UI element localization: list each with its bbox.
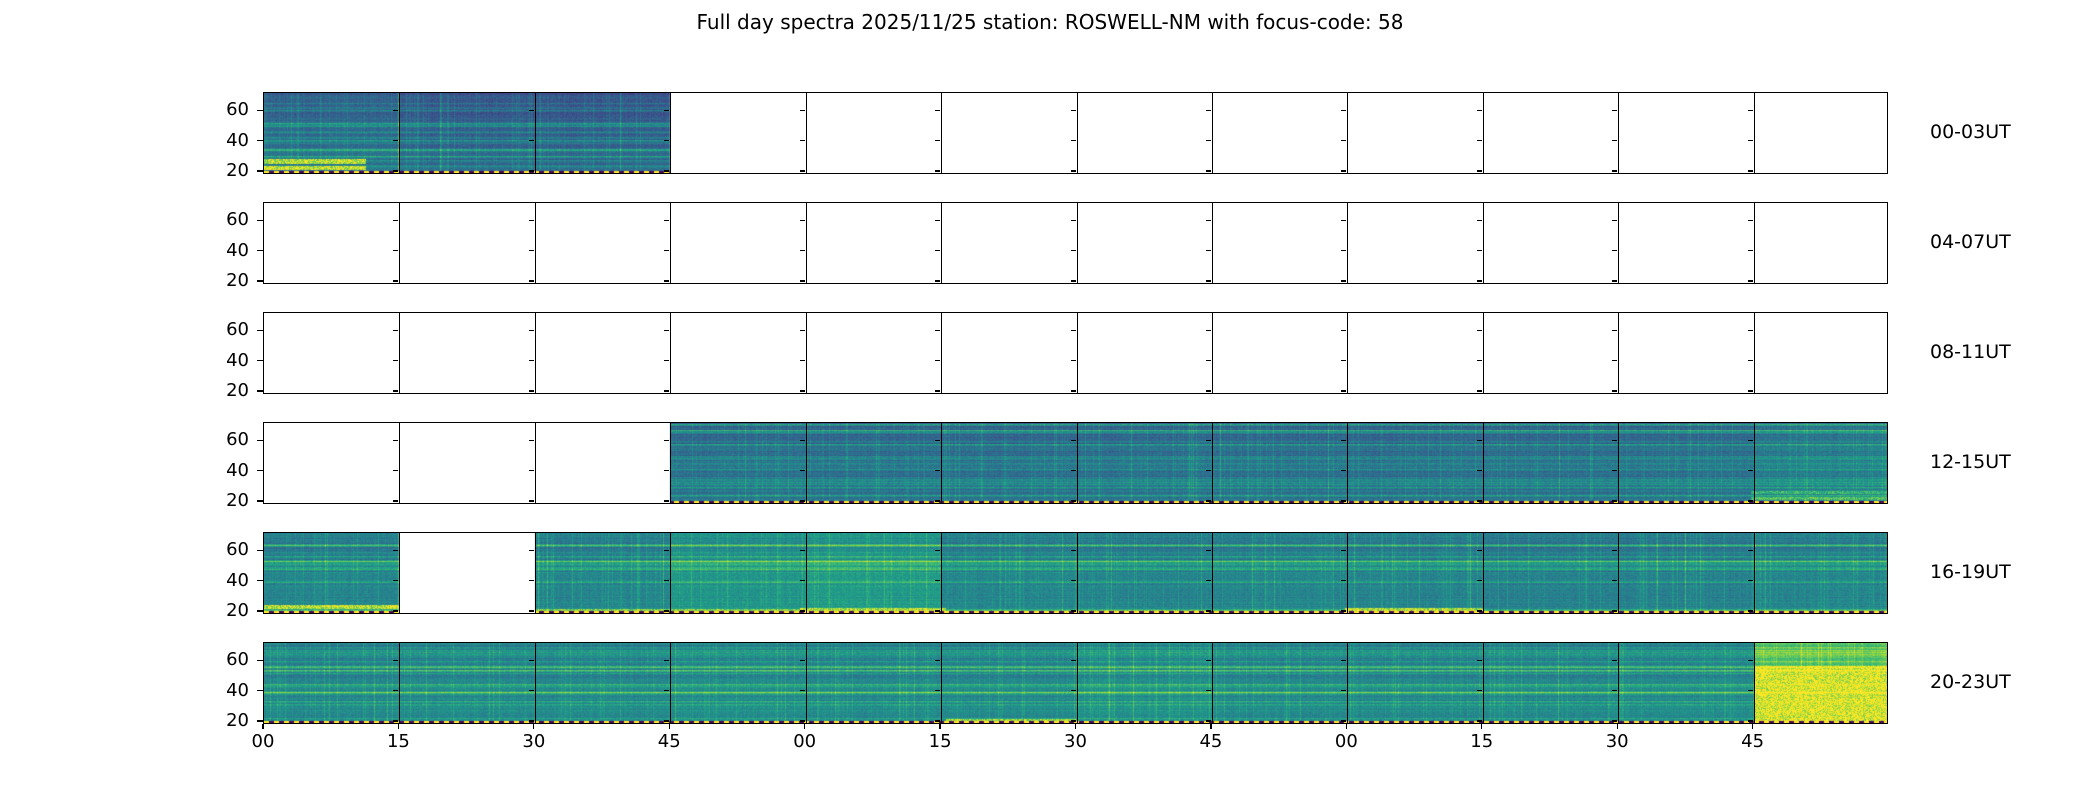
segment-divider	[806, 93, 807, 173]
x-tick-label: 00	[765, 731, 845, 752]
y-tick-mark-inner	[1206, 660, 1211, 661]
y-tick-mark-inner	[1477, 330, 1482, 331]
x-tick-label: 45	[1713, 731, 1793, 752]
segment-divider	[1754, 203, 1755, 283]
y-tick-mark-inner	[1071, 390, 1076, 391]
y-tick-mark-inner	[1206, 500, 1211, 501]
y-tick-mark-inner	[1748, 330, 1753, 331]
y-tick-mark-inner	[529, 360, 534, 361]
segment-divider	[1347, 203, 1348, 283]
y-tick-mark-inner	[1477, 470, 1482, 471]
y-tick-mark-inner	[1612, 140, 1617, 141]
y-tick-mark	[257, 390, 263, 391]
y-tick-mark	[257, 500, 263, 501]
y-tick-mark-inner	[1477, 440, 1482, 441]
y-tick-mark-inner	[1206, 690, 1211, 691]
y-tick-mark-inner	[1612, 250, 1617, 251]
segment-divider	[670, 203, 671, 283]
y-tick-mark-inner	[800, 360, 805, 361]
y-tick-mark-inner	[935, 360, 940, 361]
y-tick-mark-inner	[1206, 580, 1211, 581]
y-tick-label: 40	[201, 680, 249, 701]
y-tick-mark-inner	[1341, 470, 1346, 471]
y-tick-mark-inner	[664, 250, 669, 251]
y-tick-label: 60	[201, 649, 249, 670]
segment-divider	[535, 203, 536, 283]
spectrogram-canvas	[264, 533, 1888, 614]
y-tick-mark	[257, 470, 263, 471]
y-tick-mark-inner	[1748, 690, 1753, 691]
spectrogram-row-00-03ut[interactable]	[263, 92, 1888, 174]
y-tick-mark-inner	[800, 440, 805, 441]
spectrogram-row-12-15ut[interactable]	[263, 422, 1888, 504]
x-tick-label: 30	[1036, 731, 1116, 752]
y-tick-mark-inner	[800, 470, 805, 471]
y-tick-mark-inner	[800, 140, 805, 141]
spectrogram-row-16-19ut[interactable]	[263, 532, 1888, 614]
y-tick-mark-inner	[800, 580, 805, 581]
y-tick-mark-inner	[1341, 720, 1346, 721]
y-tick-mark-inner	[800, 170, 805, 171]
y-tick-mark-inner	[664, 500, 669, 501]
segment-divider	[535, 643, 536, 723]
y-tick-mark-inner	[1477, 660, 1482, 661]
y-tick-mark-inner	[393, 500, 398, 501]
y-tick-mark-inner	[1477, 250, 1482, 251]
y-tick-mark-inner	[529, 250, 534, 251]
segment-divider	[806, 203, 807, 283]
segment-divider	[1212, 533, 1213, 613]
segment-divider	[399, 643, 400, 723]
y-tick-mark-inner	[529, 110, 534, 111]
y-tick-mark	[257, 580, 263, 581]
x-tick-label: 30	[494, 731, 574, 752]
y-tick-mark-inner	[1748, 110, 1753, 111]
y-tick-mark-inner	[935, 690, 940, 691]
y-tick-mark-inner	[800, 280, 805, 281]
y-tick-mark	[257, 110, 263, 111]
y-tick-mark-inner	[1341, 170, 1346, 171]
segment-divider	[1483, 533, 1484, 613]
segment-divider	[1077, 313, 1078, 393]
y-tick-mark-inner	[1341, 690, 1346, 691]
y-tick-label: 20	[201, 600, 249, 621]
y-tick-label: 20	[201, 710, 249, 731]
x-tick-label: 15	[900, 731, 980, 752]
y-tick-mark-inner	[529, 470, 534, 471]
x-tick-mark	[533, 724, 534, 729]
y-tick-mark-inner	[1341, 110, 1346, 111]
y-tick-mark-inner	[1748, 250, 1753, 251]
segment-divider	[1618, 533, 1619, 613]
y-tick-mark-inner	[1748, 360, 1753, 361]
y-tick-mark-inner	[1748, 280, 1753, 281]
y-tick-mark-inner	[393, 720, 398, 721]
y-tick-mark-inner	[1341, 550, 1346, 551]
x-tick-mark	[1346, 724, 1347, 729]
y-tick-mark	[257, 330, 263, 331]
y-tick-mark-inner	[664, 390, 669, 391]
y-tick-mark-inner	[1748, 550, 1753, 551]
x-tick-mark	[1075, 724, 1076, 729]
y-tick-mark-inner	[1477, 220, 1482, 221]
segment-divider	[1212, 423, 1213, 503]
x-tick-label: 15	[1442, 731, 1522, 752]
y-tick-mark-inner	[1071, 500, 1076, 501]
y-tick-mark-inner	[1748, 170, 1753, 171]
y-tick-mark-inner	[664, 440, 669, 441]
y-tick-mark-inner	[1071, 610, 1076, 611]
y-tick-mark-inner	[1206, 720, 1211, 721]
y-tick-mark-inner	[1341, 660, 1346, 661]
y-tick-mark-inner	[800, 390, 805, 391]
y-tick-mark-inner	[393, 660, 398, 661]
y-tick-mark-inner	[1071, 140, 1076, 141]
y-tick-mark-inner	[1477, 720, 1482, 721]
segment-divider	[941, 203, 942, 283]
segment-divider	[1618, 423, 1619, 503]
y-tick-mark-inner	[1477, 390, 1482, 391]
x-tick-mark	[1617, 724, 1618, 729]
y-tick-label: 60	[201, 209, 249, 230]
y-tick-mark-inner	[1477, 140, 1482, 141]
y-tick-mark-inner	[1341, 500, 1346, 501]
segment-divider	[941, 93, 942, 173]
y-tick-mark-inner	[935, 280, 940, 281]
y-tick-mark	[257, 690, 263, 691]
y-tick-mark-inner	[935, 720, 940, 721]
segment-divider	[1483, 93, 1484, 173]
y-tick-mark-inner	[1477, 550, 1482, 551]
y-tick-mark-inner	[393, 610, 398, 611]
x-tick-mark	[1210, 724, 1211, 729]
y-tick-label: 40	[201, 240, 249, 261]
segment-divider	[941, 643, 942, 723]
y-tick-mark-inner	[1748, 390, 1753, 391]
y-tick-mark-inner	[1206, 250, 1211, 251]
y-tick-mark-inner	[1612, 550, 1617, 551]
y-tick-mark	[257, 550, 263, 551]
y-tick-label: 60	[201, 429, 249, 450]
y-tick-mark-inner	[935, 170, 940, 171]
segment-divider	[399, 93, 400, 173]
segment-divider	[1618, 313, 1619, 393]
y-tick-mark-inner	[1071, 550, 1076, 551]
segment-divider	[1212, 313, 1213, 393]
y-tick-mark-inner	[393, 220, 398, 221]
y-tick-mark-inner	[1612, 220, 1617, 221]
y-tick-mark-inner	[1748, 660, 1753, 661]
segment-divider	[399, 203, 400, 283]
y-tick-mark-inner	[1206, 280, 1211, 281]
row-label-04-07ut: 04-07UT	[1930, 231, 2011, 253]
y-tick-mark-inner	[529, 280, 534, 281]
y-tick-mark-inner	[1477, 170, 1482, 171]
y-tick-mark-inner	[1341, 280, 1346, 281]
segment-divider	[806, 423, 807, 503]
y-tick-mark-inner	[529, 390, 534, 391]
segment-divider	[535, 93, 536, 173]
y-tick-mark-inner	[1612, 720, 1617, 721]
y-tick-mark-inner	[529, 690, 534, 691]
y-tick-mark-inner	[1071, 720, 1076, 721]
y-tick-mark-inner	[1206, 360, 1211, 361]
segment-divider	[1212, 203, 1213, 283]
y-tick-mark-inner	[664, 220, 669, 221]
y-tick-mark-inner	[1341, 580, 1346, 581]
y-tick-label: 20	[201, 380, 249, 401]
y-tick-mark-inner	[664, 720, 669, 721]
x-tick-mark	[398, 724, 399, 729]
spectrogram-canvas	[264, 643, 1888, 724]
segment-divider	[1754, 423, 1755, 503]
y-tick-mark-inner	[800, 610, 805, 611]
y-tick-mark-inner	[1206, 330, 1211, 331]
y-tick-mark-inner	[800, 690, 805, 691]
y-tick-mark-inner	[1206, 610, 1211, 611]
y-tick-mark-inner	[1612, 580, 1617, 581]
y-tick-mark	[257, 660, 263, 661]
y-tick-mark-inner	[393, 110, 398, 111]
segment-divider	[806, 533, 807, 613]
y-tick-mark-inner	[935, 140, 940, 141]
y-tick-mark-inner	[800, 660, 805, 661]
y-tick-mark-inner	[1071, 250, 1076, 251]
row-label-16-19ut: 16-19UT	[1930, 561, 2011, 583]
y-tick-mark-inner	[800, 550, 805, 551]
y-tick-mark	[257, 720, 263, 721]
y-tick-mark-inner	[529, 440, 534, 441]
y-tick-mark-inner	[393, 440, 398, 441]
y-tick-mark	[257, 220, 263, 221]
y-tick-label: 20	[201, 490, 249, 511]
segment-divider	[1483, 313, 1484, 393]
y-tick-mark-inner	[529, 170, 534, 171]
x-tick-label: 45	[629, 731, 709, 752]
y-tick-mark-inner	[1341, 250, 1346, 251]
y-tick-mark-inner	[800, 220, 805, 221]
y-tick-mark-inner	[1477, 110, 1482, 111]
segment-divider	[670, 313, 671, 393]
y-tick-mark	[257, 610, 263, 611]
x-tick-label: 00	[223, 731, 303, 752]
segment-divider	[670, 533, 671, 613]
y-tick-mark-inner	[393, 250, 398, 251]
y-tick-mark-inner	[664, 690, 669, 691]
y-tick-mark-inner	[1748, 220, 1753, 221]
y-tick-mark	[257, 140, 263, 141]
y-tick-mark-inner	[1341, 330, 1346, 331]
spectrogram-row-20-23ut[interactable]	[263, 642, 1888, 724]
y-tick-mark-inner	[1748, 440, 1753, 441]
y-tick-mark-inner	[1071, 330, 1076, 331]
y-tick-mark-inner	[393, 470, 398, 471]
segment-divider	[1077, 93, 1078, 173]
segment-divider	[1077, 533, 1078, 613]
y-tick-mark-inner	[1206, 140, 1211, 141]
y-tick-mark-inner	[393, 330, 398, 331]
segment-divider	[1618, 643, 1619, 723]
y-tick-mark-inner	[1748, 580, 1753, 581]
y-tick-mark-inner	[1341, 440, 1346, 441]
y-tick-mark	[257, 250, 263, 251]
y-tick-mark-inner	[935, 660, 940, 661]
y-tick-mark-inner	[393, 360, 398, 361]
y-tick-mark-inner	[1071, 440, 1076, 441]
x-tick-label: 45	[1171, 731, 1251, 752]
y-tick-mark-inner	[1071, 580, 1076, 581]
y-tick-mark-inner	[664, 280, 669, 281]
y-tick-mark-inner	[1341, 140, 1346, 141]
y-tick-mark-inner	[664, 110, 669, 111]
y-tick-mark-inner	[664, 140, 669, 141]
spectrogram-canvas	[264, 423, 1888, 504]
segment-divider	[1347, 533, 1348, 613]
y-tick-mark-inner	[1748, 140, 1753, 141]
y-tick-mark-inner	[1206, 550, 1211, 551]
y-tick-mark-inner	[664, 580, 669, 581]
segment-divider	[670, 93, 671, 173]
segment-divider	[1483, 203, 1484, 283]
y-tick-mark-inner	[1612, 360, 1617, 361]
y-tick-mark	[257, 440, 263, 441]
y-tick-mark-inner	[393, 170, 398, 171]
y-tick-mark-inner	[935, 500, 940, 501]
segment-divider	[1754, 643, 1755, 723]
y-tick-mark-inner	[935, 470, 940, 471]
y-tick-mark-inner	[529, 220, 534, 221]
y-tick-mark-inner	[393, 280, 398, 281]
x-tick-mark	[669, 724, 670, 729]
y-tick-mark	[257, 170, 263, 171]
y-tick-mark-inner	[800, 500, 805, 501]
y-tick-mark-inner	[935, 550, 940, 551]
y-tick-mark-inner	[800, 250, 805, 251]
segment-divider	[1754, 533, 1755, 613]
row-label-20-23ut: 20-23UT	[1930, 671, 2011, 693]
y-tick-label: 60	[201, 539, 249, 560]
y-tick-mark-inner	[1748, 470, 1753, 471]
spectrogram-canvas	[264, 313, 1888, 394]
segment-divider	[1347, 423, 1348, 503]
y-tick-label: 40	[201, 350, 249, 371]
y-tick-mark-inner	[664, 610, 669, 611]
y-tick-mark-inner	[393, 390, 398, 391]
y-tick-mark-inner	[1341, 220, 1346, 221]
y-tick-mark-inner	[1477, 690, 1482, 691]
y-tick-mark-inner	[1477, 360, 1482, 361]
y-tick-mark-inner	[935, 250, 940, 251]
y-tick-mark-inner	[664, 550, 669, 551]
segment-divider	[806, 313, 807, 393]
row-label-12-15ut: 12-15UT	[1930, 451, 2011, 473]
y-tick-mark-inner	[935, 440, 940, 441]
x-tick-label: 15	[358, 731, 438, 752]
y-tick-mark-inner	[1071, 470, 1076, 471]
segment-divider	[535, 313, 536, 393]
y-tick-mark-inner	[1206, 220, 1211, 221]
y-tick-mark-inner	[529, 660, 534, 661]
segment-divider	[535, 533, 536, 613]
y-tick-mark-inner	[1071, 690, 1076, 691]
y-tick-mark-inner	[935, 390, 940, 391]
y-tick-mark-inner	[529, 550, 534, 551]
y-tick-mark-inner	[1206, 390, 1211, 391]
segment-divider	[1347, 313, 1348, 393]
y-tick-mark-inner	[1612, 610, 1617, 611]
x-tick-label: 00	[1306, 731, 1386, 752]
y-tick-mark	[257, 280, 263, 281]
y-tick-mark-inner	[1748, 610, 1753, 611]
y-tick-mark-inner	[1071, 170, 1076, 171]
y-tick-mark-inner	[1341, 390, 1346, 391]
y-tick-mark-inner	[1206, 440, 1211, 441]
y-tick-mark-inner	[1341, 360, 1346, 361]
y-tick-mark-inner	[935, 220, 940, 221]
y-tick-mark-inner	[664, 360, 669, 361]
x-tick-mark	[1752, 724, 1753, 729]
y-tick-mark-inner	[1071, 220, 1076, 221]
y-tick-mark-inner	[1612, 330, 1617, 331]
y-tick-mark-inner	[664, 470, 669, 471]
y-tick-mark-inner	[1612, 390, 1617, 391]
y-tick-mark-inner	[393, 140, 398, 141]
page-title: Full day spectra 2025/11/25 station: ROS…	[0, 10, 2100, 34]
y-tick-mark-inner	[1477, 500, 1482, 501]
segment-divider	[399, 533, 400, 613]
y-tick-mark-inner	[664, 330, 669, 331]
y-tick-mark-inner	[1612, 170, 1617, 171]
y-tick-mark-inner	[529, 580, 534, 581]
spectrogram-canvas	[264, 93, 1888, 174]
y-tick-label: 40	[201, 130, 249, 151]
y-tick-mark-inner	[1477, 580, 1482, 581]
spectrogram-row-04-07ut[interactable]	[263, 202, 1888, 284]
segment-divider	[1347, 93, 1348, 173]
segment-divider	[1618, 93, 1619, 173]
segment-divider	[1077, 423, 1078, 503]
y-tick-mark-inner	[664, 170, 669, 171]
row-label-08-11ut: 08-11UT	[1930, 341, 2011, 363]
y-tick-mark-inner	[1748, 500, 1753, 501]
y-tick-mark-inner	[1206, 470, 1211, 471]
y-tick-label: 60	[201, 99, 249, 120]
spectrogram-canvas	[264, 203, 1888, 284]
y-tick-mark-inner	[800, 330, 805, 331]
y-tick-mark-inner	[1206, 110, 1211, 111]
segment-divider	[1754, 313, 1755, 393]
segment-divider	[1212, 93, 1213, 173]
y-tick-mark-inner	[393, 690, 398, 691]
y-tick-mark-inner	[935, 330, 940, 331]
y-tick-mark	[257, 360, 263, 361]
y-tick-mark-inner	[529, 720, 534, 721]
spectrogram-row-08-11ut[interactable]	[263, 312, 1888, 394]
segment-divider	[1212, 643, 1213, 723]
y-tick-mark-inner	[1206, 170, 1211, 171]
x-tick-mark	[804, 724, 805, 729]
y-tick-label: 40	[201, 460, 249, 481]
segment-divider	[1483, 643, 1484, 723]
segment-divider	[1754, 93, 1755, 173]
segment-divider	[535, 423, 536, 503]
y-tick-mark-inner	[1341, 610, 1346, 611]
y-tick-mark-inner	[800, 110, 805, 111]
y-tick-mark-inner	[529, 330, 534, 331]
y-tick-mark-inner	[1477, 280, 1482, 281]
y-tick-mark-inner	[1612, 280, 1617, 281]
segment-divider	[806, 643, 807, 723]
